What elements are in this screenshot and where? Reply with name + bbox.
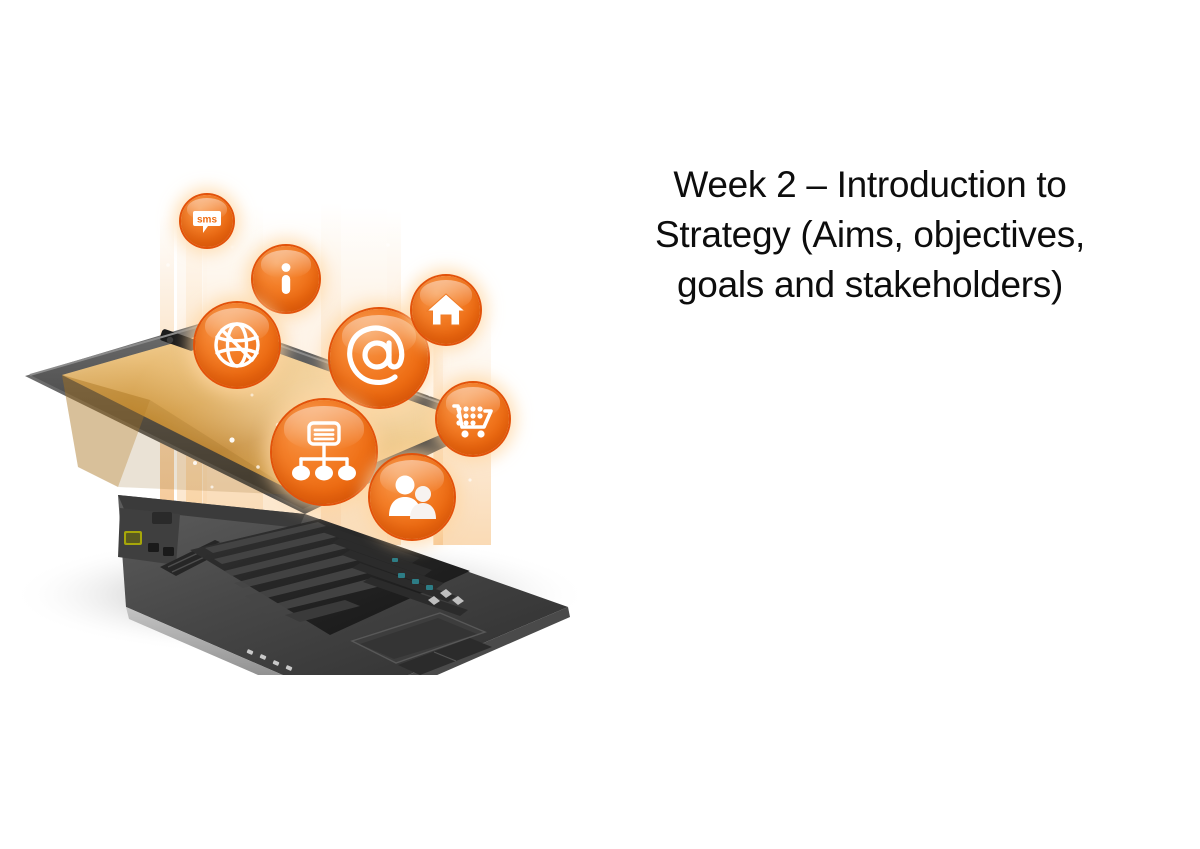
sms-icon: sms: [190, 204, 224, 238]
title-line-2: Strategy (Aims, objectives,: [615, 210, 1125, 260]
bubble-info: [253, 246, 319, 312]
laptop-illustration: [0, 95, 620, 675]
info-icon: [266, 259, 306, 299]
slide-canvas: sms: [0, 0, 1200, 849]
bubble-sitemap: [272, 400, 376, 504]
email-at-icon: [344, 323, 414, 393]
svg-text:sms: sms: [197, 215, 217, 226]
title-line-1: Week 2 – Introduction to: [615, 160, 1125, 210]
bubble-users: [370, 455, 454, 539]
bubble-globe: [195, 303, 279, 387]
bubble-home: [412, 276, 480, 344]
bubble-shopping-cart: [437, 383, 509, 455]
bubble-email: [330, 309, 428, 407]
shopping-cart-icon: [450, 396, 496, 442]
bubble-sms: sms: [181, 195, 233, 247]
globe-icon: [209, 317, 265, 373]
laptop-technology-illustration: sms: [0, 95, 620, 675]
title-line-3: goals and stakeholders): [615, 260, 1125, 310]
slide-title: Week 2 – Introduction to Strategy (Aims,…: [615, 160, 1125, 310]
home-icon: [425, 289, 467, 331]
sitemap-icon: [291, 419, 357, 485]
users-icon: [385, 470, 439, 524]
